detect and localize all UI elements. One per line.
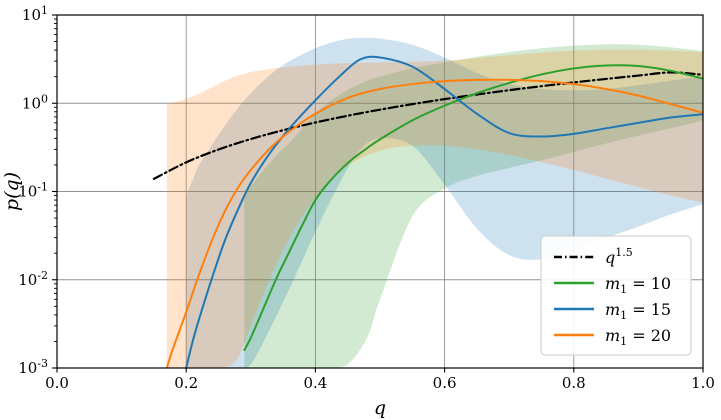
x-tick-label: 0.0 — [45, 374, 69, 392]
y-tick-label: 101 — [22, 4, 48, 24]
legend-label: m1 = 15 — [605, 300, 671, 322]
x-tick-label: 0.8 — [562, 374, 586, 392]
chart-canvas: 0.00.20.40.60.81.010-310-210-1100101qp(q… — [0, 0, 721, 420]
y-axis-ticks: 10-310-210-1100101 — [18, 4, 57, 377]
svg-text:p(q): p(q) — [1, 172, 23, 211]
x-tick-label: 0.6 — [433, 374, 457, 392]
x-axis-ticks: 0.00.20.40.60.81.0 — [45, 368, 715, 392]
y-axis-label: p(q) — [1, 172, 23, 211]
x-tick-label: 1.0 — [691, 374, 715, 392]
y-tick-label: 100 — [22, 92, 48, 112]
y-tick-label: 10-3 — [18, 357, 48, 377]
chart-figure: 0.00.20.40.60.81.010-310-210-1100101qp(q… — [0, 0, 721, 420]
x-tick-label: 0.4 — [303, 374, 327, 392]
x-tick-label: 0.2 — [174, 374, 198, 392]
legend-label: m1 = 20 — [605, 326, 671, 348]
legend: q1.5m1 = 10m1 = 15m1 = 20 — [541, 236, 691, 355]
y-tick-label: 10-2 — [18, 269, 48, 289]
legend-label: m1 = 10 — [605, 274, 671, 296]
x-axis-label: q — [374, 397, 386, 419]
